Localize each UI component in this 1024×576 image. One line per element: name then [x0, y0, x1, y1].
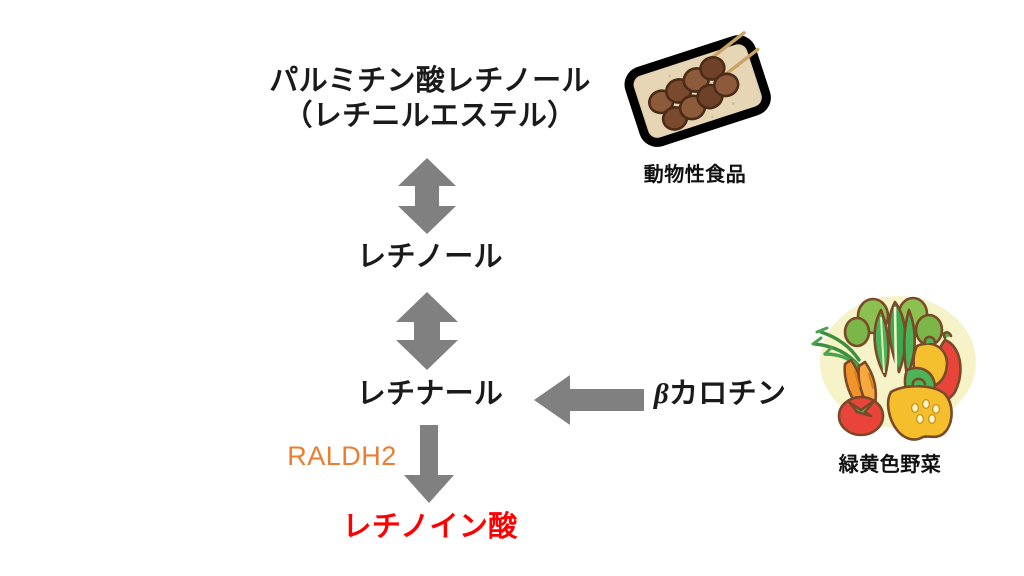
node-retinal: レチナール	[300, 377, 560, 412]
arrow-retinol-retinal-bidirectional	[396, 292, 458, 370]
arrow-retinyl-ester-retinol-bidirectional	[398, 158, 456, 234]
node-retinoic-acid: レチノイン酸	[300, 510, 560, 545]
node-retinyl-palmitate: パルミチン酸レチノール （レチニルエステル）	[250, 64, 610, 135]
green-yellow-vegetables-icon	[795, 288, 995, 448]
yakitori-skewers-plate-icon	[618, 28, 778, 156]
caption-green-yellow-vegetables: 緑黄色野菜	[800, 448, 980, 477]
enzyme-label-raldh2: RALDH2	[272, 441, 412, 472]
caption-animal-food: 動物性食品	[605, 158, 785, 187]
arrow-retinal-to-retinoic-acid	[404, 425, 454, 503]
diagram-canvas: パルミチン酸レチノール （レチニルエステル） レチノール レチナール βカロチン…	[0, 0, 1024, 576]
beta-symbol: β	[654, 378, 669, 410]
beta-carotene-label: カロチン	[669, 378, 786, 410]
node-retinol: レチノール	[300, 240, 560, 275]
node-beta-carotene: βカロチン	[620, 377, 820, 412]
